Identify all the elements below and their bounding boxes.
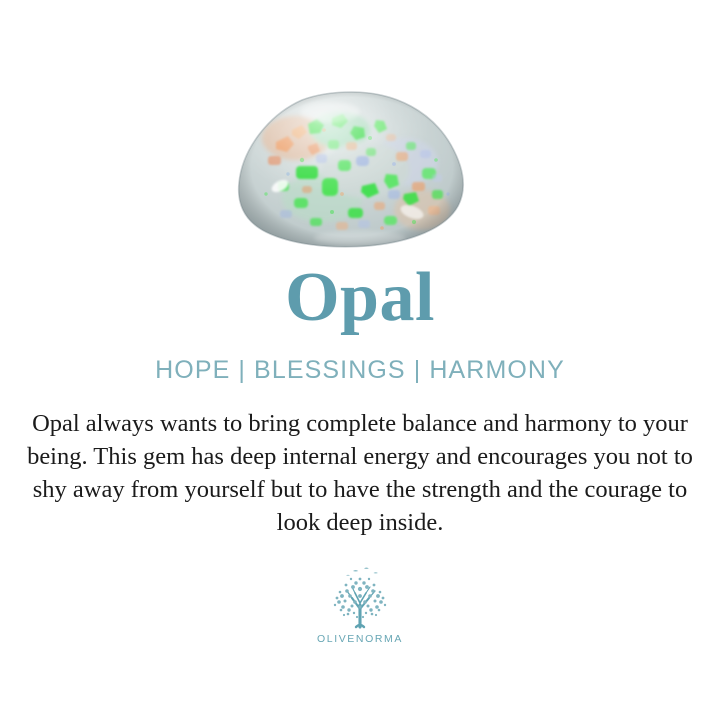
brand-logo: OLIVENORMA (317, 565, 403, 645)
opal-cabochon-image (236, 90, 468, 250)
page-title: Opal (285, 260, 435, 336)
tree-icon (323, 565, 397, 631)
brand-wordmark: OLIVENORMA (317, 633, 403, 645)
gemstone-info-card: Opal HOPE | BLESSINGS | HARMONY Opal alw… (0, 0, 720, 720)
keyword-subtitle: HOPE | BLESSINGS | HARMONY (155, 356, 565, 385)
description-text: Opal always wants to bring complete bala… (25, 407, 695, 539)
gem-image-area (0, 0, 720, 260)
description-paragraph: Opal always wants to bring complete bala… (25, 407, 695, 539)
